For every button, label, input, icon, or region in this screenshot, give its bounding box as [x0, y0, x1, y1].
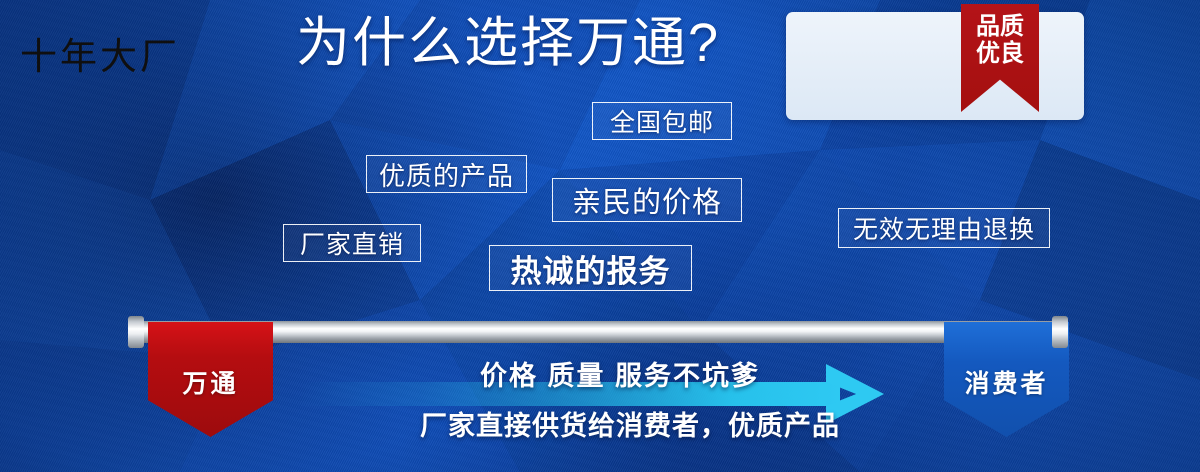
- feature-tag: 亲民的价格: [552, 178, 742, 222]
- target-banner-label: 消费者: [964, 364, 1048, 400]
- metal-bar: [136, 321, 1068, 343]
- flow-line-1: 价格 质量 服务不坑爹: [480, 354, 760, 393]
- feature-tag: 厂家直销: [283, 224, 421, 262]
- ribbon-text: 品质 优良: [961, 14, 1039, 68]
- bar-end-cap-left: [128, 316, 144, 348]
- promo-banner: 为什么选择万通? 十年大厂 品质 优良 全国包邮 优质的产品 亲民的价格 厂家直…: [0, 0, 1200, 472]
- quality-badge-panel: [786, 12, 1084, 120]
- feature-tag: 全国包邮: [592, 102, 732, 140]
- page-title: 为什么选择万通?: [296, 14, 720, 72]
- feature-tag: 优质的产品: [366, 155, 527, 193]
- feature-tag: 无效无理由退换: [838, 208, 1050, 248]
- flow-line-2: 厂家直接供货给消费者，优质产品: [420, 404, 840, 443]
- bar-end-cap-right: [1052, 316, 1068, 348]
- source-banner-label: 万通: [182, 364, 238, 400]
- feature-tag: 热诚的报务: [489, 245, 692, 291]
- ribbon-line-2: 优良: [961, 41, 1039, 68]
- ribbon-line-1: 品质: [961, 14, 1039, 41]
- quality-badge-label: 十年大厂: [20, 26, 190, 80]
